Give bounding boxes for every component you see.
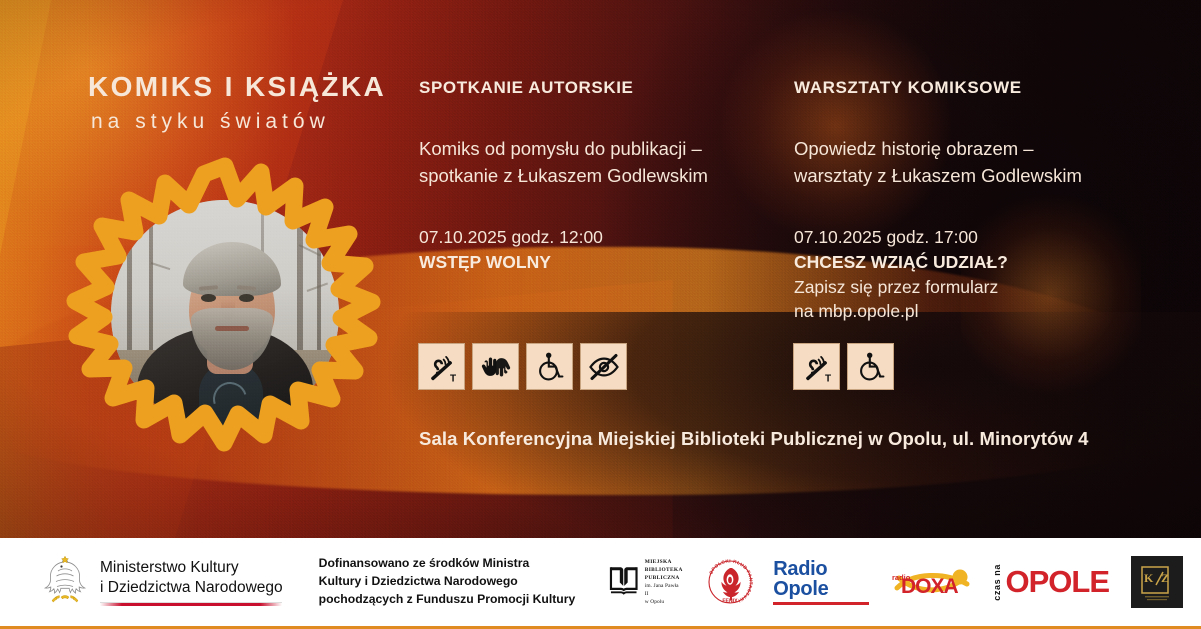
event-2-note-line2: na mbp.opole.pl [794, 299, 1144, 324]
polish-eagle-icon [40, 553, 90, 611]
fenix-phoenix-icon: OPOLSKI KLUB FANTASTYKI FENIX [705, 557, 755, 607]
wheelchair-icon [847, 343, 894, 390]
sign-language-icon [472, 343, 519, 390]
event-1-datetime: 07.10.2025 godz. 12:00 [419, 225, 764, 250]
event-2-kicker: WARSZTATY KOMIKSOWE [794, 78, 1144, 98]
wheelchair-icon [526, 343, 573, 390]
library-line-2: BIBLIOTEKA [645, 566, 683, 574]
ministry-line-1: Ministerstwo Kultury [100, 558, 283, 577]
event-1-cta: WSTĘP WOLNY [419, 250, 764, 275]
ministry-line-2: i Dziedzictwa Narodowego [100, 578, 283, 597]
event-column-1: SPOTKANIE AUTORSKIE Komiks od pomysłu do… [419, 78, 764, 275]
czas-na-opole-name: OPOLE [1005, 566, 1109, 597]
library-line-4: im. Jana Pawła II [645, 582, 683, 598]
funding-line-3: pochodzących z Funduszu Promocji Kultury [319, 591, 576, 609]
event-2-description: Opowiedz historię obrazem – warsztaty z … [794, 136, 1144, 189]
czas-na-opole-logo: czas na OPOLE [993, 564, 1109, 601]
event-1-description-line1: Komiks od pomysłu do publikacji – [419, 136, 764, 162]
accessibility-icons-event-1: T [418, 343, 627, 390]
fenix-name: FENIX [723, 599, 739, 605]
radio-doxa-logo: radio DOXA [891, 564, 973, 600]
event-column-2: WARSZTATY KOMIKSOWE Opowiedz historię ob… [794, 78, 1144, 324]
accessibility-icons-event-2: T [793, 343, 894, 390]
event-2-cta: CHCESZ WZIĄĆ UDZIAŁ? [794, 250, 1144, 275]
ministry-logo: Ministerstwo Kultury i Dziedzictwa Narod… [40, 553, 283, 611]
funding-statement: Dofinansowano ze środków Ministra Kultur… [319, 555, 576, 608]
poster: KOMIKS I KSIĄŻKA na styku światów [0, 0, 1201, 629]
hearing-loop-icon: T [418, 343, 465, 390]
svg-text:T: T [825, 373, 831, 384]
radio-opole-name: Radio Opole [773, 559, 869, 599]
library-logo: MIEJSKA BIBLIOTEKA PUBLICZNA im. Jana Pa… [609, 558, 683, 607]
kz-logo: K Z [1131, 556, 1183, 608]
funding-line-1: Dofinansowano ze środków Ministra [319, 555, 576, 573]
event-2-description-line1: Opowiedz historię obrazem – [794, 136, 1144, 162]
event-1-description: Komiks od pomysłu do publikacji – spotka… [419, 136, 764, 189]
sunburst-frame [56, 152, 394, 476]
svg-text:K: K [1144, 571, 1154, 585]
event-1-kicker: SPOTKANIE AUTORSKIE [419, 78, 764, 98]
radio-doxa-name: DOXA [901, 575, 959, 598]
poster-headline: KOMIKS I KSIĄŻKA na styku światów [88, 72, 428, 133]
visually-impaired-icon [580, 343, 627, 390]
fenix-logo: OPOLSKI KLUB FANTASTYKI FENIX [705, 557, 755, 607]
kz-monogram-icon: K Z [1131, 556, 1183, 608]
library-line-3: PUBLICZNA [645, 574, 683, 582]
library-line-5: w Opolu [645, 598, 683, 606]
venue-line: Sala Konferencyjna Miejskiej Biblioteki … [419, 428, 1089, 450]
event-2-description-line2: warsztaty z Łukaszem Godlewskim [794, 163, 1144, 189]
event-1-description-line2: spotkanie z Łukaszem Godlewskim [419, 163, 764, 189]
headline-subtitle: na styku światów [88, 110, 428, 133]
hearing-loop-icon: T [793, 343, 840, 390]
funding-line-2: Kultury i Dziedzictwa Narodowego [319, 573, 576, 591]
svg-text:Z: Z [1161, 571, 1169, 585]
library-line-1: MIEJSKA [645, 558, 683, 566]
event-2-datetime: 07.10.2025 godz. 17:00 [794, 225, 1144, 250]
ministry-rule [100, 602, 282, 606]
radio-opole-logo: Radio Opole [773, 559, 869, 605]
open-book-icon [609, 565, 638, 599]
czas-na-opole-vertical: czas na [993, 564, 1002, 601]
radio-opole-rule [773, 602, 869, 605]
event-2-note-line1: Zapisz się przez formularz [794, 275, 1144, 300]
portrait-block [56, 152, 394, 476]
headline-title: KOMIKS I KSIĄŻKA [88, 72, 428, 103]
sponsor-footer: Ministerstwo Kultury i Dziedzictwa Narod… [0, 538, 1201, 629]
svg-text:T: T [450, 373, 456, 384]
